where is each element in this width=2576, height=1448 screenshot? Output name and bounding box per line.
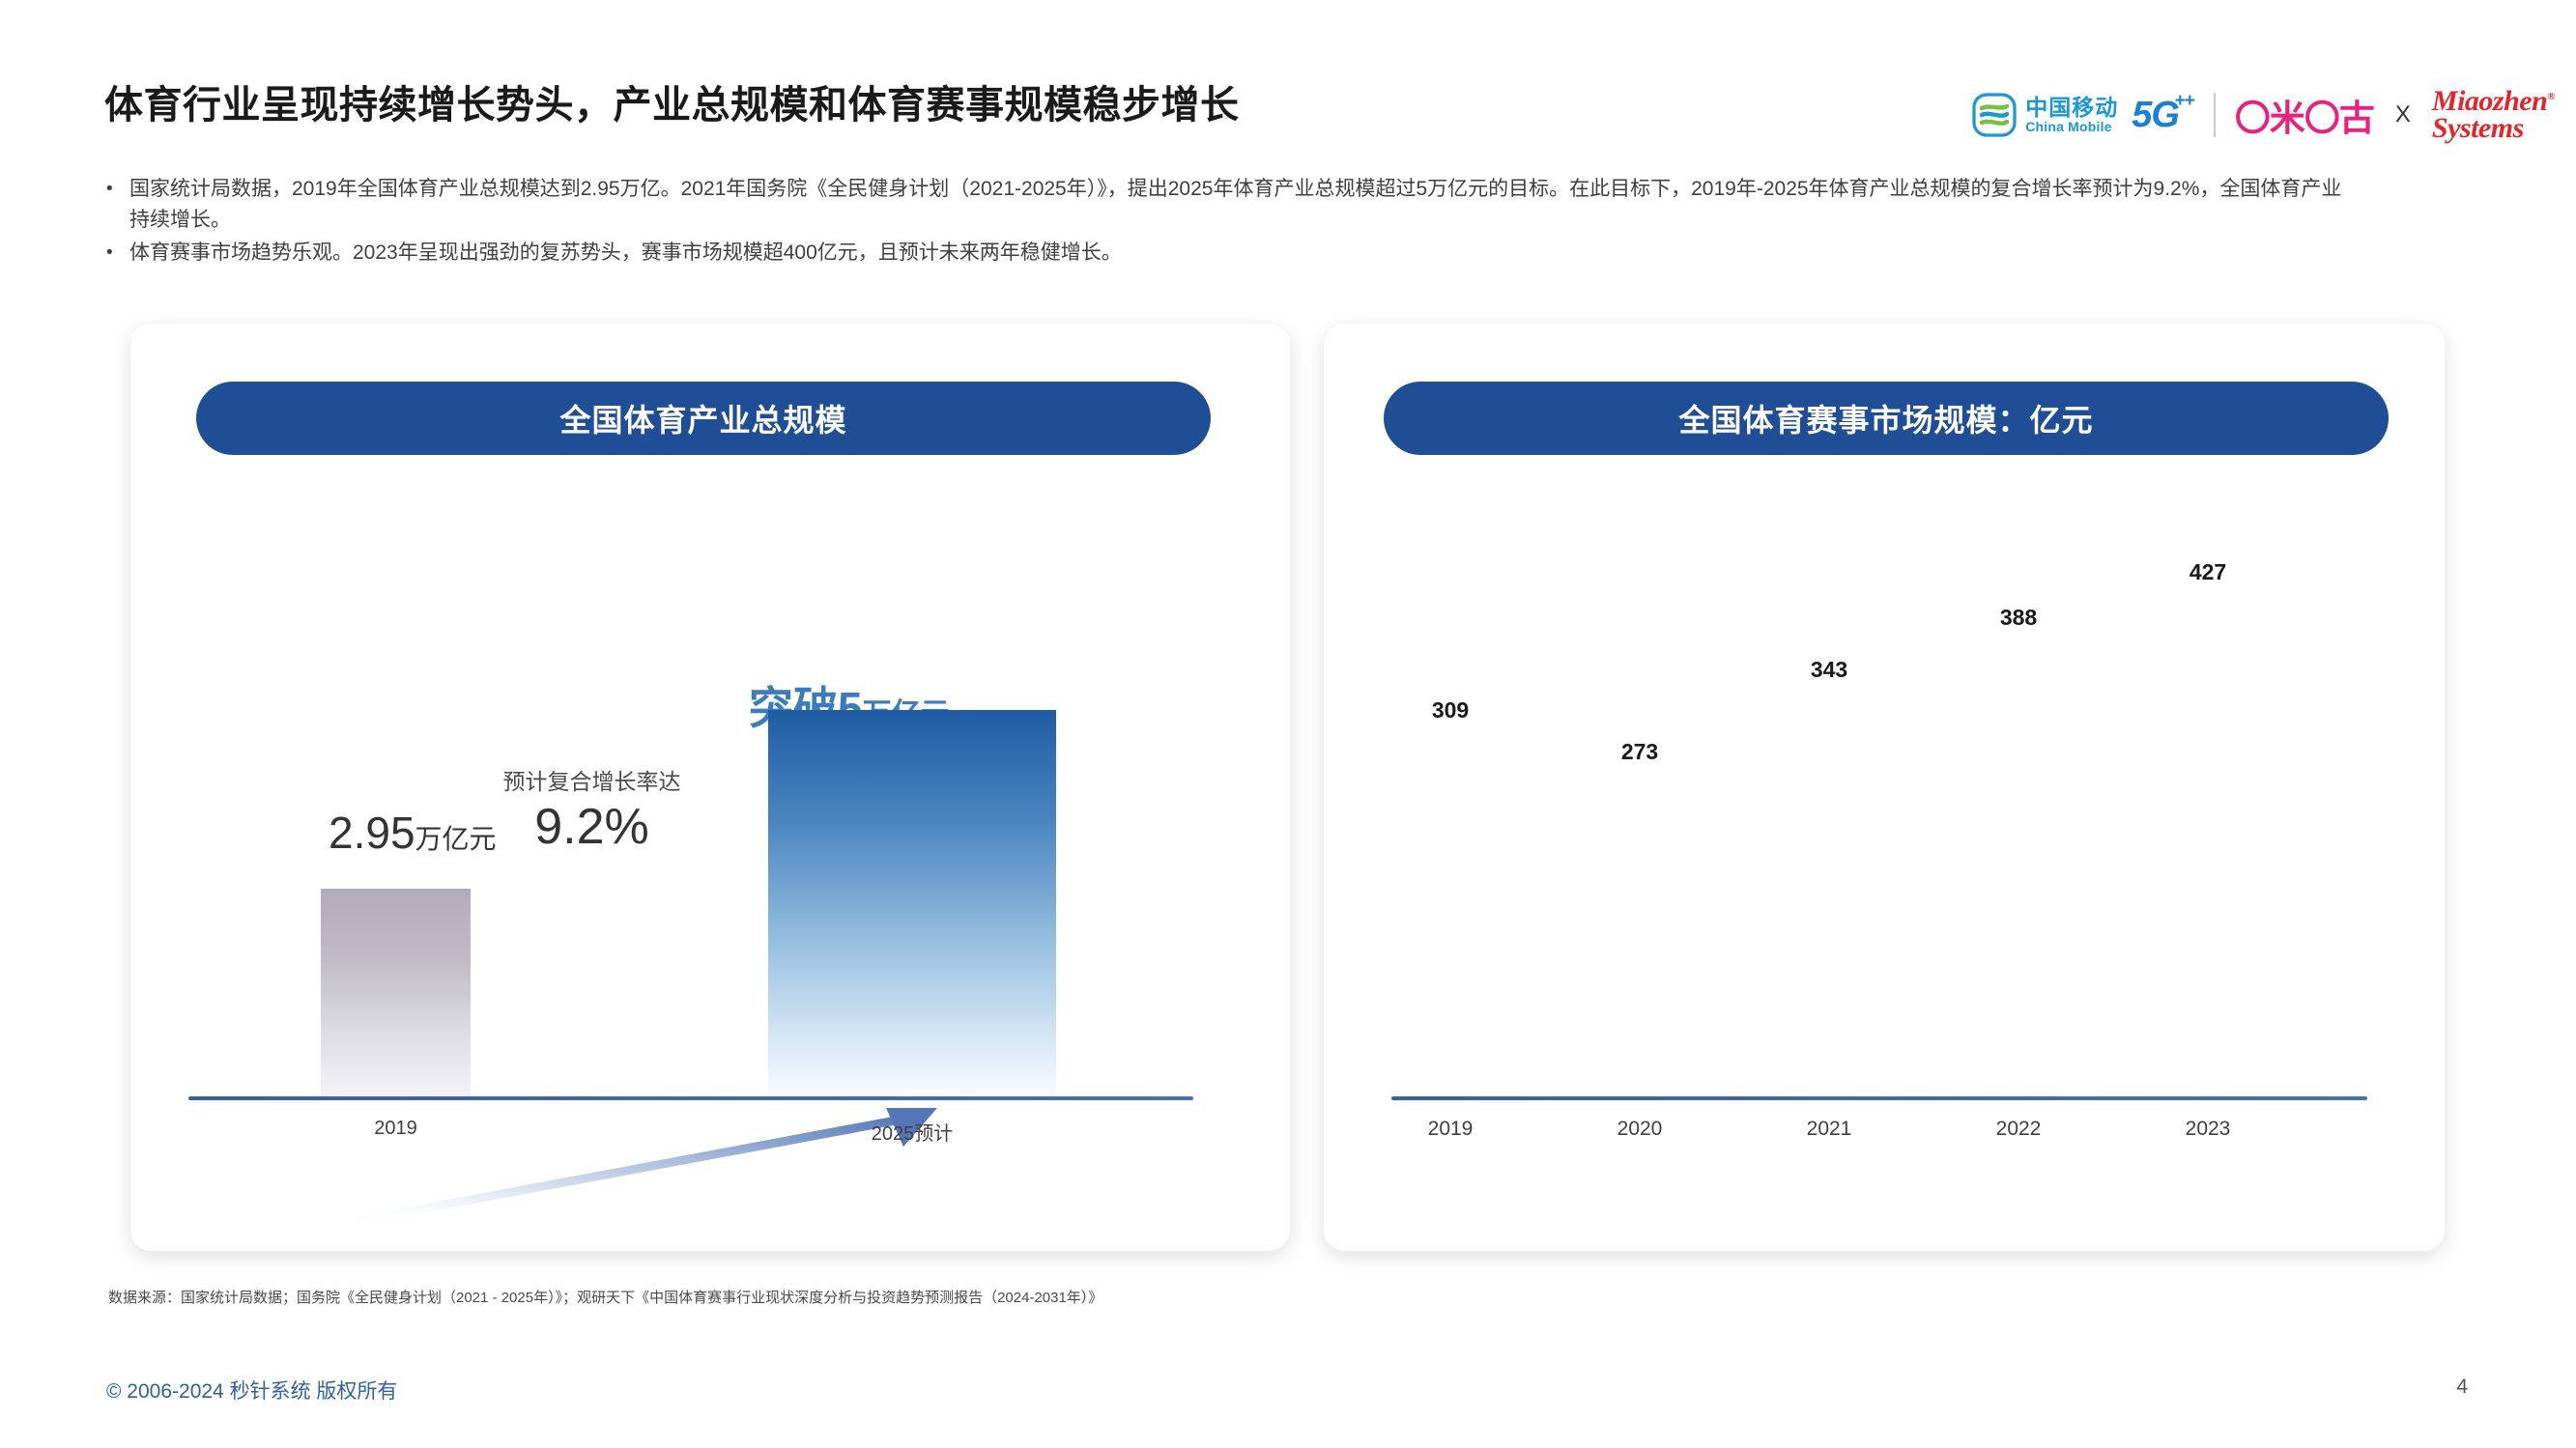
right-chart-area: 309273343388427 20192020202120222023 bbox=[1324, 324, 2445, 1251]
x-label-2022: 2022 bbox=[1952, 1118, 2085, 1141]
china-mobile-logo: 中国移动 China Mobile bbox=[1972, 93, 2118, 137]
source-note: 数据来源：国家统计局数据；国务院《全民健身计划（2021 - 2025年）》；观… bbox=[108, 1287, 1102, 1307]
bar-value-2020: 273 bbox=[1602, 739, 1677, 765]
copyright-text: © 2006-2024 秒针系统 版权所有 bbox=[106, 1376, 397, 1405]
bullet-text: 国家统计局数据，2019年全国体育产业总规模达到2.95万亿。2021年国务院《… bbox=[129, 174, 2358, 236]
bar-2019 bbox=[321, 889, 471, 1096]
five-g-text: 5G bbox=[2132, 95, 2179, 135]
bar-2020 bbox=[1602, 778, 1677, 1096]
five-g-plus-text: ++ bbox=[2175, 91, 2194, 112]
china-mobile-cn-text: 中国移动 bbox=[2025, 97, 2118, 119]
bar-2022 bbox=[1981, 643, 2056, 1096]
logo-divider bbox=[2214, 93, 2216, 137]
five-g-logo: 5G ++ bbox=[2132, 95, 2194, 136]
china-mobile-en-text: China Mobile bbox=[2025, 120, 2118, 133]
bullet-item: • 国家统计局数据，2019年全国体育产业总规模达到2.95万亿。2021年国务… bbox=[106, 174, 2358, 236]
chart-card-event-market: 全国体育赛事市场规模：亿元 309273343388427 2019202020… bbox=[1324, 324, 2445, 1251]
bar-value-2023: 427 bbox=[2170, 559, 2246, 585]
bullet-item: • 体育赛事市场趋势乐观。2023年呈现出强劲的复苏势头，赛事市场规模超400亿… bbox=[106, 238, 2358, 269]
china-mobile-wordmark: 中国移动 China Mobile bbox=[2025, 97, 2118, 133]
x-label-2019: 2019 bbox=[1384, 1118, 1517, 1141]
bar-2023 bbox=[2170, 598, 2246, 1096]
bar-value-2021: 343 bbox=[1791, 657, 1867, 683]
slide-root: 体育行业呈现持续增长势头，产业总规模和体育赛事规模稳步增长 中国移动 China… bbox=[0, 0, 2576, 1448]
x-label-2021: 2021 bbox=[1762, 1118, 1896, 1141]
x-label-2019: 2019 bbox=[321, 1118, 471, 1140]
bullet-list: • 国家统计局数据，2019年全国体育产业总规模达到2.95万亿。2021年国务… bbox=[106, 174, 2358, 270]
migu-logo: 〇米〇古 bbox=[2235, 89, 2374, 141]
china-mobile-mark-icon bbox=[1972, 93, 2017, 137]
chart-card-industry-scale: 全国体育产业总规模 2.95万亿元 预计复合增长率达 bbox=[130, 324, 1290, 1251]
page-title: 体育行业呈现持续增长势头，产业总规模和体育赛事规模稳步增长 bbox=[104, 73, 1240, 129]
miaozhen-logo: Miaozhen® Systems bbox=[2432, 88, 2555, 141]
bar-2021 bbox=[1791, 696, 1867, 1096]
bullet-text: 体育赛事市场趋势乐观。2023年呈现出强劲的复苏势头，赛事市场规模超400亿元，… bbox=[129, 238, 2358, 269]
bar-value-2019: 309 bbox=[1413, 697, 1488, 724]
partnership-x-mark: X bbox=[2395, 101, 2411, 128]
right-chart-axis bbox=[1391, 1096, 2367, 1100]
x-label-2020: 2020 bbox=[1573, 1118, 1706, 1141]
bar-2019 bbox=[1413, 736, 1488, 1096]
left-chart-area: 2.95万亿元 预计复合增长率达 9.2% 突破5万亿元 2019 2025预计 bbox=[130, 324, 1290, 1251]
cagr-annotation: 预计复合增长率达 9.2% bbox=[464, 763, 720, 856]
miaozhen-line1: Miaozhen® bbox=[2432, 88, 2555, 115]
page-number: 4 bbox=[2456, 1376, 2468, 1399]
x-label-2023: 2023 bbox=[2141, 1118, 2275, 1141]
cagr-label: 预计复合增长率达 bbox=[464, 763, 720, 796]
left-chart-axis bbox=[188, 1096, 1193, 1100]
bullet-marker: • bbox=[106, 174, 129, 236]
bullet-marker: • bbox=[106, 238, 129, 269]
cagr-value: 9.2% bbox=[464, 798, 720, 856]
logo-bar: 中国移动 China Mobile 5G ++ 〇米〇古 X Miaozhen®… bbox=[1972, 85, 2555, 145]
bar-value-2022: 388 bbox=[1981, 605, 2056, 631]
x-label-2025: 2025预计 bbox=[768, 1118, 1056, 1146]
bar-2025-forecast bbox=[768, 710, 1056, 1096]
miaozhen-line2: Systems bbox=[2432, 115, 2555, 142]
